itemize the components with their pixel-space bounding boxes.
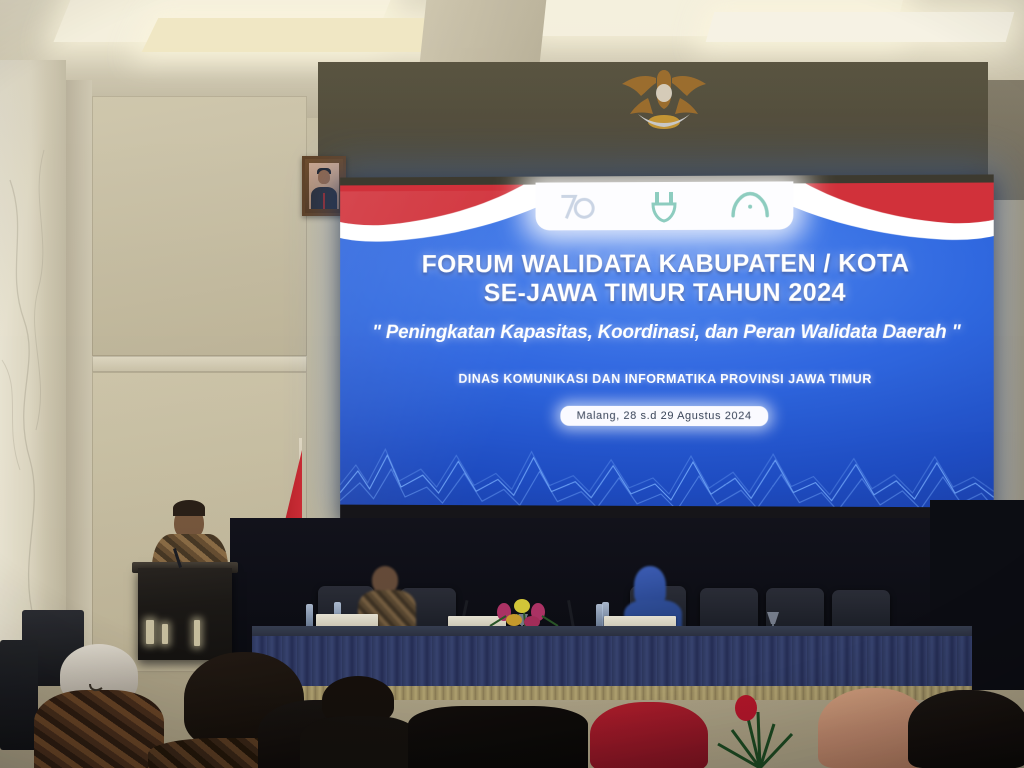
- wall-chair-rail: [92, 356, 307, 372]
- garuda-emblem: [608, 52, 720, 136]
- audience-grey-hair: [34, 644, 164, 768]
- wall-panel: [92, 96, 307, 356]
- brown-batik-shirt: [34, 690, 164, 768]
- slide-text-block: FORUM WALIDATA KABUPATEN / KOTA SE-JAWA …: [340, 249, 994, 427]
- marble-pilaster-edge: [66, 80, 92, 660]
- portrait-head: [318, 170, 331, 184]
- black-hijab: [908, 690, 1024, 768]
- logo-diskominfo-icon: [723, 188, 777, 224]
- podium-light: [194, 620, 200, 646]
- slide-title-line-2: SE-JAWA TIMUR TAHUN 2024: [340, 278, 994, 308]
- slide-wave-graphic: [340, 431, 994, 513]
- foreground-plant: [700, 682, 820, 768]
- slide-organizer: DINAS KOMUNIKASI DAN INFORMATIKA PROVINS…: [340, 372, 994, 387]
- podium-light: [146, 620, 154, 644]
- eyeglasses-icon: [86, 676, 144, 696]
- logo-jatim-icon: [637, 188, 691, 224]
- speaker-hair: [173, 500, 205, 516]
- slide-title-line-1: FORUM WALIDATA KABUPATEN / KOTA: [340, 249, 994, 279]
- marble-pilaster: [0, 60, 66, 660]
- audience-black-hijab: [908, 690, 1024, 768]
- led-presentation-screen: FORUM WALIDATA KABUPATEN / KOTA SE-JAWA …: [340, 174, 994, 521]
- audience-plant-foreground: [700, 682, 820, 768]
- silhouette: [408, 706, 588, 768]
- audience-black-shirt-left: [300, 676, 420, 768]
- audience-red-hijab: [580, 698, 720, 768]
- slide-subtitle: " Peningkatan Kapasitas, Koordinasi, dan…: [340, 322, 994, 344]
- portrait-tie: [323, 193, 326, 209]
- podium-light: [162, 624, 168, 644]
- slide-logo-bar: [536, 181, 794, 230]
- black-shirt: [300, 716, 420, 768]
- logo-79-kemerdekaan-icon: [551, 188, 605, 224]
- red-hijab: [590, 702, 708, 768]
- slide-date-badge: Malang, 28 s.d 29 Agustus 2024: [561, 406, 768, 426]
- ceiling-light-cove: [706, 12, 1015, 42]
- marble-vein-pattern: [0, 60, 66, 660]
- slide-date-row: Malang, 28 s.d 29 Agustus 2024: [340, 405, 994, 426]
- portrait-image: [309, 163, 339, 209]
- conference-photo-scene: FORUM WALIDATA KABUPATEN / KOTA SE-JAWA …: [0, 0, 1024, 768]
- audience-row-silhouette: [408, 706, 588, 768]
- pa-speaker-cabinet: [0, 640, 38, 750]
